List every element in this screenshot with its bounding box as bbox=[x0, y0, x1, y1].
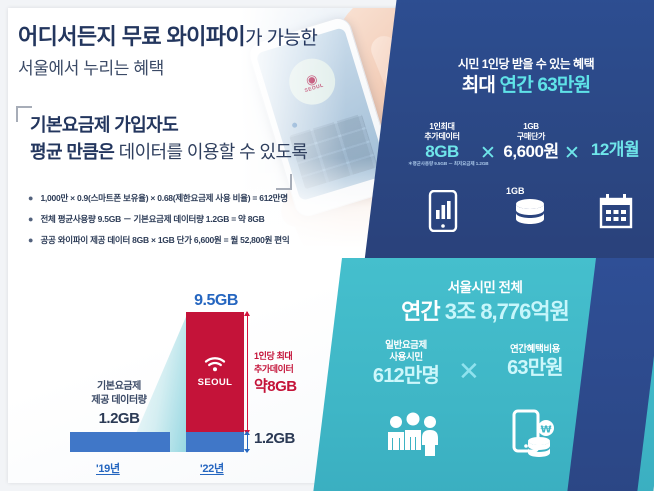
chart-left-caption-1: 기본요금제 bbox=[44, 380, 194, 394]
navy-heading-prefix: 최대 bbox=[462, 75, 500, 96]
headline-line-2: 서울에서 누리는 혜택 bbox=[18, 56, 348, 82]
infographic-root: ◉ SEOUL 어디서든지 무료 와이파이가 가능한 서울에서 누리는 혜택 기… bbox=[0, 0, 654, 491]
bullet-dot-icon: ● bbox=[28, 234, 33, 247]
bar-2019-base bbox=[70, 432, 170, 452]
navy-heading-big: 최대 연간 63만원 bbox=[398, 70, 654, 97]
navy-formula: 1인최대 추가데이터 8GB ＊평균사용량 9.5GB － 최저요금제 1.2G… bbox=[402, 122, 652, 198]
bracket-bottom-right-icon bbox=[276, 174, 292, 190]
formula-caption-2a: 1GB bbox=[498, 122, 564, 132]
bar-2022-base bbox=[186, 432, 244, 452]
teal-heading-small: 서울시민 전체 bbox=[360, 276, 610, 296]
chart-right-caption-2: 추가데이터 bbox=[254, 363, 344, 376]
chart-x-label-2019: '19년 bbox=[96, 460, 120, 476]
teal-heading-value: 3조 8,776억원 bbox=[445, 299, 569, 324]
page-title: 어디서든지 무료 와이파이가 가능한 서울에서 누리는 혜택 bbox=[18, 22, 348, 82]
teal-caption-1a: 일반요금제 bbox=[358, 340, 454, 352]
navy-panel-content: 시민 1인당 받을 수 있는 혜택 최대 연간 63만원 1인최대 추가데이터 … bbox=[398, 0, 654, 282]
quote-line-2: 평균 만큼은 데이터를 이용할 수 있도록 bbox=[30, 139, 340, 166]
teal-value-2: 63만원 bbox=[482, 356, 588, 380]
chart-base-range-arrow bbox=[247, 432, 248, 452]
chart-left-label: 기본요금제 제공 데이터량 1.2GB bbox=[44, 380, 194, 429]
bullet-text: 전체 평균사용량 9.5GB － 기본요금제 데이터량 1.2GB = 약 8G… bbox=[40, 213, 264, 226]
formula-value-2: 6,600원 bbox=[498, 142, 564, 161]
wifi-icon bbox=[204, 356, 226, 375]
formula-value-3: 12개월 bbox=[580, 140, 650, 159]
multiply-icon: ✕ bbox=[480, 144, 496, 163]
bullet-text: 공공 와이파이 제공 데이터 8GB × 1GB 단가 6,600원 = 월 5… bbox=[40, 234, 289, 247]
teal-formula: 일반요금제 사용시민 612만명 ✕ 연간혜택비용 63만원 bbox=[360, 340, 610, 406]
teal-caption-2a: 연간혜택비용 bbox=[482, 344, 588, 356]
navy-icon-row: 1GB bbox=[402, 190, 652, 236]
teal-column-1: 일반요금제 사용시민 612만명 bbox=[358, 340, 454, 388]
list-item: ● 공공 와이파이 제공 데이터 8GB × 1GB 단가 6,600원 = 월… bbox=[28, 234, 358, 247]
list-item: ● 1,000만 × 0.9(스마트폰 보유율) × 0.68(제한요금제 사용… bbox=[28, 192, 358, 205]
teal-caption-1b: 사용시민 bbox=[358, 352, 454, 364]
bullet-dot-icon: ● bbox=[28, 192, 33, 205]
bar-chart: 9.5GB 기본요금제 제공 데이터량 1.2GB SEOUL 1인당 최대 추… bbox=[14, 280, 344, 480]
teal-column-2: 연간혜택비용 63만원 bbox=[482, 344, 588, 380]
chart-base-value-label: 1.2GB bbox=[254, 430, 295, 447]
quote-block: 기본요금제 가입자도 평균 만큼은 데이터를 이용할 수 있도록 bbox=[20, 112, 340, 166]
bullet-list: ● 1,000만 × 0.9(스마트폰 보유율) × 0.68(제한요금제 사용… bbox=[28, 192, 358, 255]
navy-heading-value: 연간 63만원 bbox=[500, 75, 591, 96]
chart-left-value: 1.2GB bbox=[44, 409, 194, 429]
quote-line-1: 기본요금제 가입자도 bbox=[30, 112, 340, 139]
people-group-icon bbox=[384, 410, 442, 463]
teal-icon-row: ₩ bbox=[360, 410, 610, 472]
formula-column-2: 1GB 구매단가 6,600원 bbox=[498, 122, 564, 161]
chart-right-label: 1인당 최대 추가데이터 약8GB bbox=[254, 350, 344, 397]
headline-strong: 어디서든지 무료 와이파이 bbox=[18, 24, 245, 49]
formula-value-1: 8GB bbox=[408, 142, 476, 161]
bar-2022-extra: SEOUL bbox=[186, 312, 244, 432]
headline-tail: 가 가능한 bbox=[245, 28, 317, 49]
teal-value-1: 612만명 bbox=[358, 364, 454, 388]
chart-x-label-2022: '22년 bbox=[200, 460, 224, 476]
multiply-icon: ✕ bbox=[458, 358, 480, 384]
phone-coins-icon: ₩ bbox=[508, 408, 560, 465]
chart-top-value-label: 9.5GB bbox=[164, 292, 268, 310]
formula-column-3: 12개월 bbox=[580, 140, 650, 159]
formula-note-1: ＊평균사용량 9.5GB － 최저요금제 1.2GB bbox=[408, 161, 476, 167]
teal-panel-content: 서울시민 전체 연간 3조 8,776억원 일반요금제 사용시민 612만명 ✕… bbox=[360, 258, 610, 491]
quote-line-2-strong: 평균 만큼은 bbox=[30, 142, 119, 162]
teal-heading-prefix: 연간 bbox=[401, 299, 445, 324]
bracket-top-left-icon bbox=[16, 106, 32, 122]
bullet-text: 1,000만 × 0.9(스마트폰 보유율) × 0.68(제한요금제 사용 비… bbox=[40, 192, 287, 205]
teal-heading-big: 연간 3조 8,776억원 bbox=[360, 294, 610, 326]
phone-chart-icon bbox=[428, 190, 458, 237]
calendar-icon bbox=[598, 192, 634, 235]
formula-column-1: 1인최대 추가데이터 8GB ＊평균사용량 9.5GB － 최저요금제 1.2G… bbox=[408, 122, 476, 167]
chart-right-value: 약8GB bbox=[254, 377, 344, 397]
formula-caption-2b: 구매단가 bbox=[498, 132, 564, 142]
bullet-dot-icon: ● bbox=[28, 213, 33, 226]
chart-left-caption-2: 제공 데이터량 bbox=[44, 394, 194, 408]
formula-caption-1a: 1인최대 bbox=[408, 122, 476, 132]
list-item: ● 전체 평균사용량 9.5GB － 기본요금제 데이터량 1.2GB = 약 … bbox=[28, 213, 358, 226]
quote-line-2-rest: 데이터를 이용할 수 있도록 bbox=[119, 142, 308, 162]
chart-right-caption-1: 1인당 최대 bbox=[254, 350, 344, 363]
headline-line-1: 어디서든지 무료 와이파이가 가능한 bbox=[18, 22, 348, 54]
multiply-icon: ✕ bbox=[564, 144, 580, 163]
data-disk-icon bbox=[510, 188, 550, 237]
chart-extra-range-arrow bbox=[247, 312, 248, 434]
formula-caption-1b: 추가데이터 bbox=[408, 132, 476, 142]
svg-text:₩: ₩ bbox=[540, 425, 551, 436]
seoul-label: SEOUL bbox=[198, 377, 233, 388]
